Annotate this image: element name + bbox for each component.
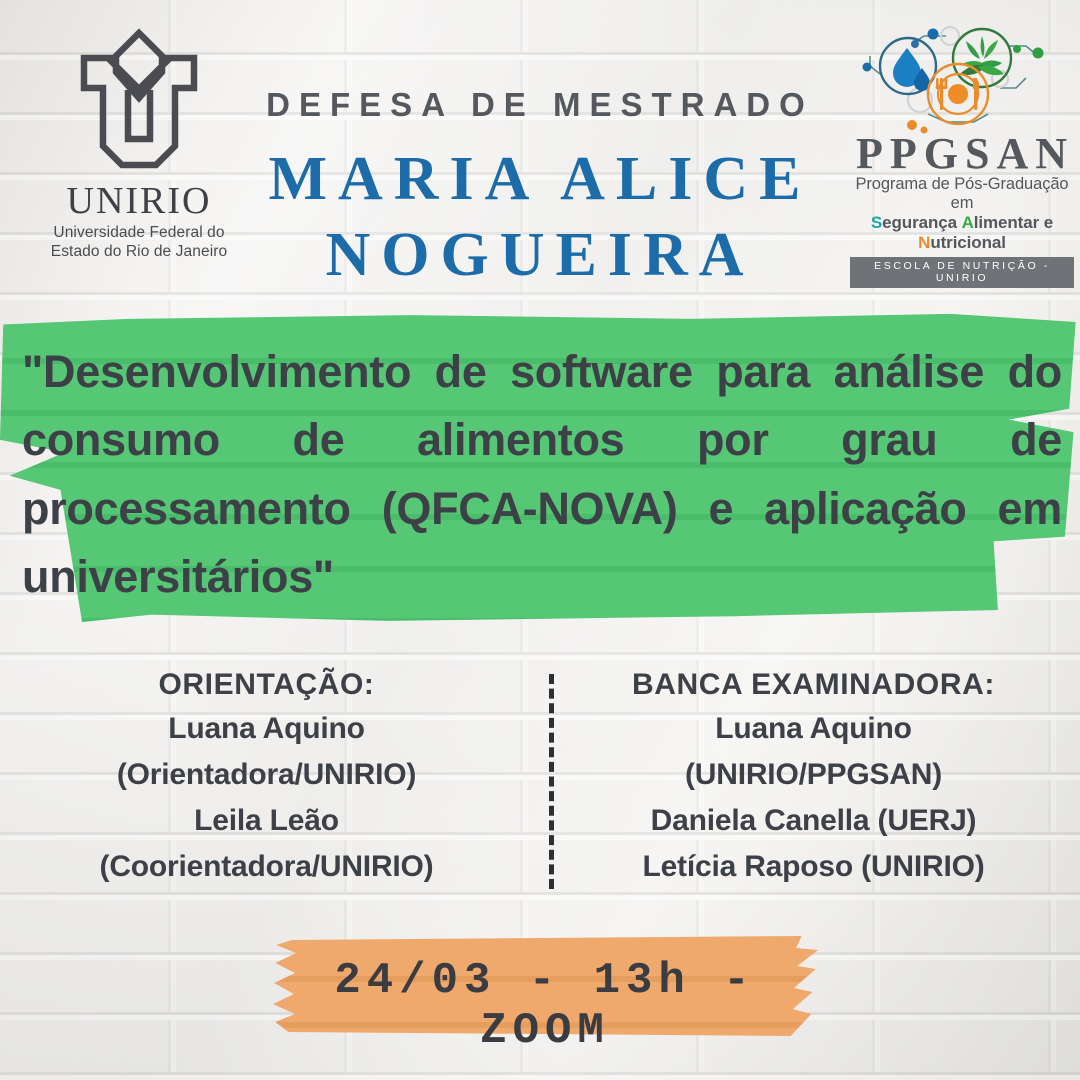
ppgsan-text-b: limentar e xyxy=(974,213,1053,232)
advising-line: (Orientadora/UNIRIO) xyxy=(14,752,519,798)
student-name: MARIA ALICE NOGUEIRA xyxy=(140,142,940,293)
committee-line: Letícia Raposo (UNIRIO) xyxy=(561,844,1066,890)
advising-line: (Coorientadora/UNIRIO) xyxy=(14,844,519,890)
plant-leaf-icon xyxy=(953,29,1011,87)
committee-line: Daniela Canella (UERJ) xyxy=(561,798,1066,844)
committee-heading: BANCA EXAMINADORA: xyxy=(561,668,1066,702)
advising-column: ORIENTAÇÃO: Luana Aquino (Orientadora/UN… xyxy=(14,668,519,890)
event-type-kicker: DEFESA DE MESTRADO xyxy=(0,86,1080,124)
date-time-location: 24/03 - 13h - ZOOM xyxy=(272,956,818,1056)
thesis-banner: "Desenvolvimento de software para anális… xyxy=(0,312,1080,624)
people-section: ORIENTAÇÃO: Luana Aquino (Orientadora/UN… xyxy=(0,668,1080,908)
advising-line: Leila Leão xyxy=(14,798,519,844)
advising-heading: ORIENTAÇÃO: xyxy=(14,668,519,702)
thesis-title: "Desenvolvimento de software para anális… xyxy=(22,338,1062,612)
committee-line: Luana Aquino xyxy=(561,706,1066,752)
advising-line: Luana Aquino xyxy=(14,706,519,752)
ppgsan-letter-a: A xyxy=(962,213,974,232)
date-banner: 24/03 - 13h - ZOOM xyxy=(272,936,818,1036)
event-poster: UNIRIO Universidade Federal do Estado do… xyxy=(0,0,1080,1080)
column-divider xyxy=(549,674,554,889)
committee-line: (UNIRIO/PPGSAN) xyxy=(561,752,1066,798)
ppgsan-text-c: utricional xyxy=(930,233,1006,252)
committee-column: BANCA EXAMINADORA: Luana Aquino (UNIRIO/… xyxy=(561,668,1066,890)
